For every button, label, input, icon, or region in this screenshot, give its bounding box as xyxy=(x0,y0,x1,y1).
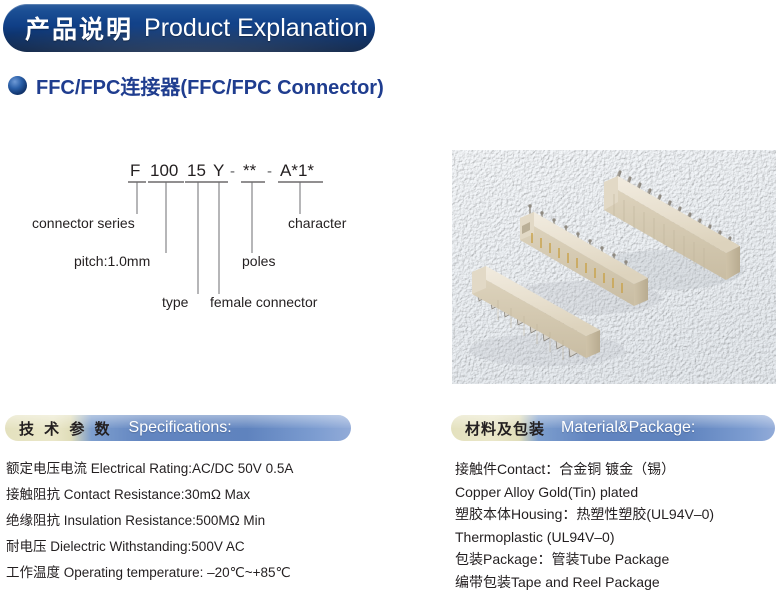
callout-label: character xyxy=(288,215,347,231)
material-package-band-header: 材料及包装 Material&Package: xyxy=(451,415,775,441)
callout-label: type xyxy=(162,294,189,310)
part-number-token: 100 xyxy=(150,161,178,180)
part-number-breakdown-diagram: F10015Y-**-A*1* connector seriespitch:1.… xyxy=(0,140,440,320)
part-number-token: - xyxy=(230,163,235,180)
part-number-tokens: F10015Y-**-A*1* xyxy=(128,161,323,182)
part-number-token: - xyxy=(267,163,272,180)
page-title-en: Product Explanation xyxy=(144,14,368,43)
part-number-token: A*1* xyxy=(280,161,314,180)
part-number-token: ** xyxy=(243,161,257,180)
part-number-callouts: connector seriespitch:1.0mmtypefemale co… xyxy=(32,182,347,310)
part-number-token: Y xyxy=(213,161,224,180)
specification-line: 绝缘阻抗 Insulation Resistance:500MΩ Min xyxy=(6,508,436,534)
part-number-token: 15 xyxy=(187,161,206,180)
material-package-band-en: Material&Package: xyxy=(561,419,695,437)
specifications-band-cn: 技 术 参 数 xyxy=(19,418,113,439)
material-package-line: Thermoplastic (UL94V–0) xyxy=(455,526,780,549)
material-package-band-cn: 材料及包装 xyxy=(465,418,545,439)
part-number-token: F xyxy=(130,161,140,180)
material-package-list: 接触件Contact：合金铜 镀金（锡）Copper Alloy Gold(Ti… xyxy=(455,458,780,593)
material-package-line: 包装Package：管装Tube Package xyxy=(455,548,780,571)
material-package-line: 塑胶本体Housing：热塑性塑胶(UL94V–0) xyxy=(455,503,780,526)
ffc-fpc-connector-photo xyxy=(452,150,776,384)
specification-line: 工作温度 Operating temperature: –20℃~+85℃ xyxy=(6,560,436,586)
callout-label: poles xyxy=(242,253,275,269)
specifications-band-en: Specifications: xyxy=(129,419,232,437)
page-title-cn: 产品说明 xyxy=(25,10,133,46)
specifications-band-header: 技 术 参 数 Specifications: xyxy=(5,415,351,441)
specification-line: 额定电压电流 Electrical Rating:AC/DC 50V 0.5A xyxy=(6,456,436,482)
specifications-list: 额定电压电流 Electrical Rating:AC/DC 50V 0.5A接… xyxy=(6,456,436,586)
page-title-banner: 产品说明 Product Explanation xyxy=(3,4,375,52)
material-package-line: Copper Alloy Gold(Tin) plated xyxy=(455,481,780,504)
section-subtitle: FFC/FPC连接器(FFC/FPC Connector) xyxy=(8,70,384,100)
material-package-line: 接触件Contact：合金铜 镀金（锡） xyxy=(455,458,780,481)
callout-label: pitch:1.0mm xyxy=(74,253,150,269)
material-package-line: 编带包装Tape and Reel Package xyxy=(455,571,780,593)
specification-line: 接触阻抗 Contact Resistance:30mΩ Max xyxy=(6,482,436,508)
callout-label: connector series xyxy=(32,215,135,231)
circle-bullet-icon xyxy=(8,76,27,95)
specification-line: 耐电压 Dielectric Withstanding:500V AC xyxy=(6,534,436,560)
section-subtitle-label: FFC/FPC连接器(FFC/FPC Connector) xyxy=(36,71,384,100)
callout-label: female connector xyxy=(210,294,318,310)
